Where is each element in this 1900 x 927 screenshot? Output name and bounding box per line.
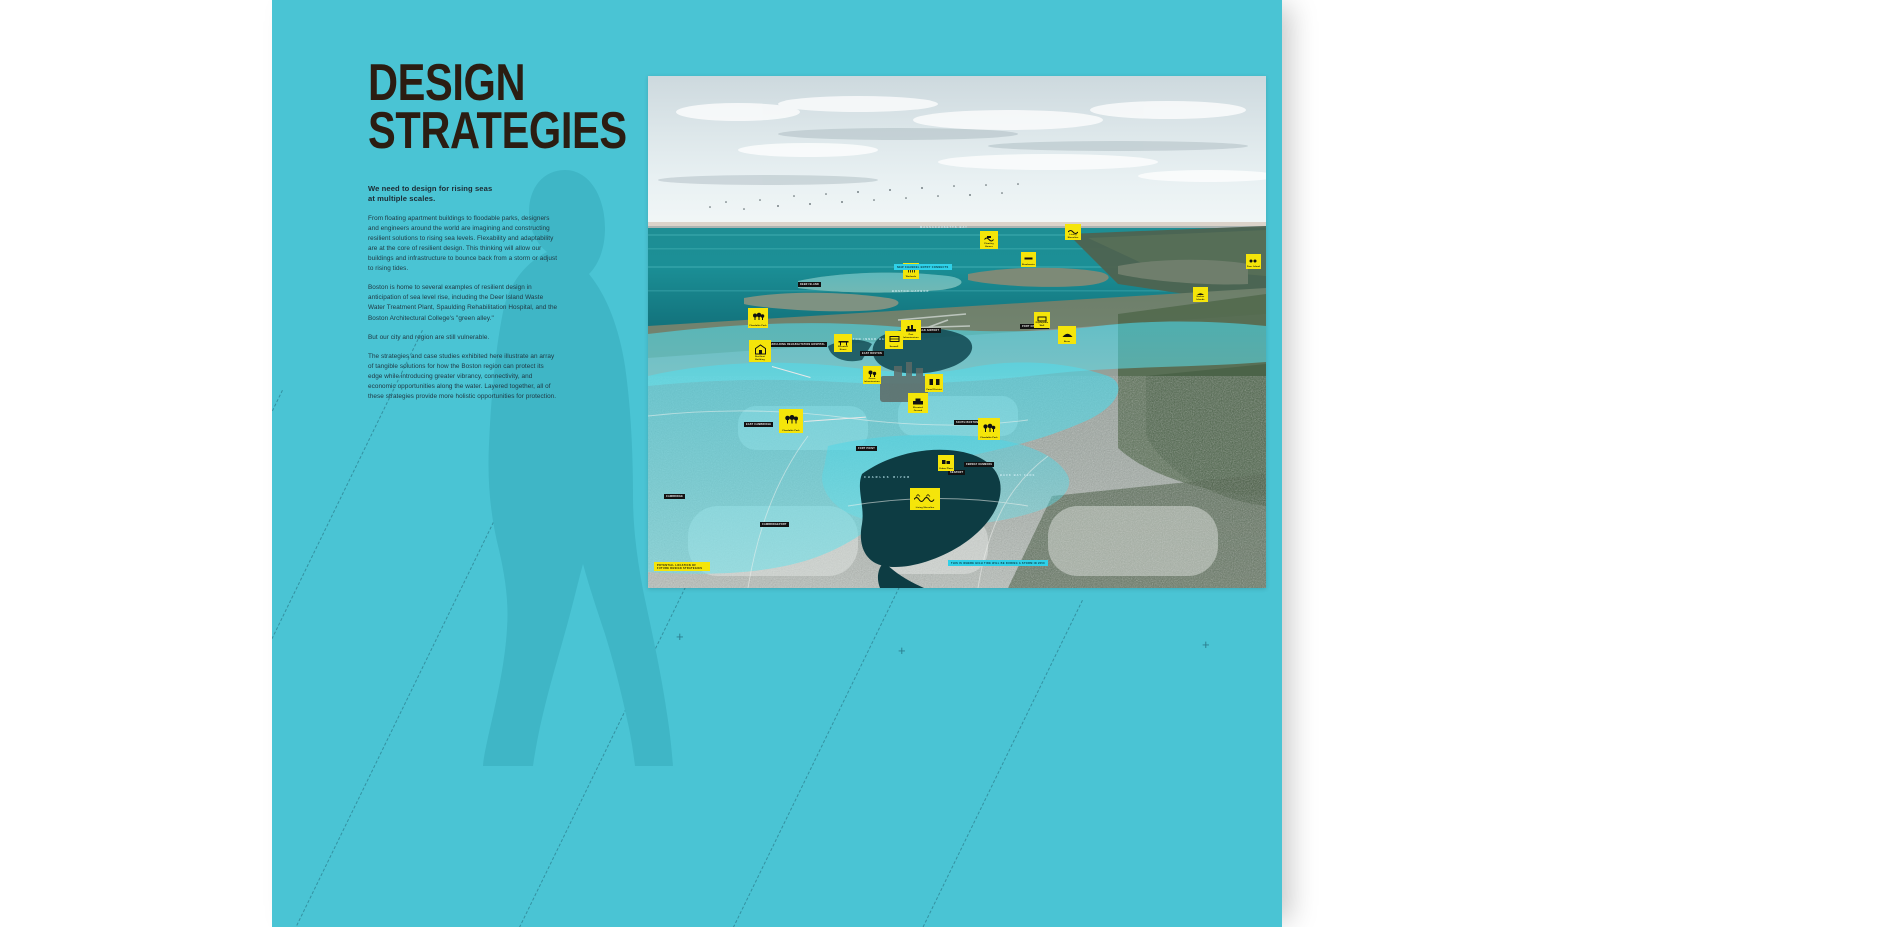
- marker-label: Deployable Wall: [1035, 322, 1049, 327]
- marker-label: Resilient Building: [750, 356, 770, 361]
- map-marker-berm[interactable]: Berm: [1058, 326, 1076, 344]
- title-line-1: DESIGN: [368, 60, 520, 108]
- park-icon: [978, 419, 1000, 436]
- crosshair-mark-3: +: [898, 644, 906, 657]
- contour-line-5: [298, 560, 913, 927]
- place-label-south-boston: SOUTH BOSTON: [954, 420, 980, 425]
- plant-icon: [1246, 255, 1261, 265]
- map-marker-port-infrastructure[interactable]: Port Infrastructure: [901, 320, 921, 340]
- map-marker-canal-district[interactable]: Canal District: [925, 374, 943, 392]
- marker-label: Urban Plaza: [939, 468, 953, 470]
- body-paragraph: But our city and region are still vulner…: [368, 333, 558, 343]
- map-marker-living-shoreline-north[interactable]: Living Shoreline: [1065, 224, 1081, 240]
- body-paragraph: From floating apartment buildings to flo…: [368, 214, 558, 275]
- subheading: We need to design for rising seas at mul…: [368, 184, 558, 205]
- berm-icon: [1058, 327, 1076, 340]
- map-caption-massachusetts-bay: MASSACHUSETTS BAY: [920, 226, 968, 229]
- marker-label: Berm: [1059, 341, 1075, 343]
- map-marker-floodable-park-west[interactable]: Floodable Park: [779, 409, 803, 433]
- marker-label: Wetlands: [904, 276, 918, 278]
- marker-label: Floodable Park: [749, 325, 767, 327]
- body-paragraph: The strategies and case studies exhibite…: [368, 352, 558, 403]
- marker-label: Floating Homes: [981, 243, 997, 248]
- plaza-icon: [938, 456, 954, 467]
- place-label-east-boston: EAST BOSTON: [860, 351, 884, 356]
- map-caption-charles-river: CHARLES RIVER: [864, 476, 911, 479]
- place-label-east-cambridge: EAST CAMBRIDGE: [744, 422, 773, 427]
- place-label-spaulding: SPAULDING REHABILITATION HOSPITAL: [768, 342, 827, 347]
- map-marker-urban-plaza[interactable]: Urban Plaza: [938, 455, 954, 471]
- map-caption-boston-harbor: BOSTON HARBOR: [892, 290, 929, 293]
- park-icon: [748, 309, 768, 324]
- map-marker-floodable-park-south[interactable]: Floodable Park: [978, 418, 1000, 440]
- marker-label: Living Shoreline: [911, 507, 939, 509]
- place-label-deer-island: DEER ISLAND: [798, 282, 821, 287]
- crosshair-mark-1: +: [566, 370, 574, 383]
- place-label-fenway-kenmore: FENWAY KENMORE: [964, 462, 994, 467]
- map-banner-flood-caption: THIS IS WHERE HIGH TIDE WILL BE DURING A…: [948, 560, 1048, 566]
- map-marker-resilient-building[interactable]: Resilient Building: [749, 340, 771, 362]
- page-title: DESIGN STRATEGIES: [368, 60, 520, 156]
- marker-label: Port Infrastructure: [902, 334, 920, 339]
- map-marker-elevated-ground[interactable]: Elevated Ground: [908, 393, 928, 413]
- contour-line-3: [272, 360, 573, 927]
- marker-label: Green Infrastructure: [864, 378, 880, 383]
- marker-label: Deer Island: [1247, 266, 1260, 268]
- map-legend: POTENTIAL LOCATION OF FUTURE DESIGN STRA…: [654, 562, 710, 571]
- barrier-icon: [1021, 253, 1036, 263]
- map-imagery: [648, 76, 1266, 588]
- canal-icon: [925, 375, 943, 388]
- place-label-cambridge: CAMBRIDGE: [664, 494, 685, 499]
- map-marker-breakwater[interactable]: Breakwater: [1021, 252, 1036, 267]
- marker-label: Harbor Islands: [1194, 296, 1207, 301]
- map-marker-floodable-park-north[interactable]: Floodable Park: [748, 308, 768, 328]
- marker-label: Canal District: [926, 389, 942, 391]
- shoreline-icon: [910, 489, 940, 506]
- contour-line-6: [468, 600, 1083, 927]
- marker-label: Breakwater: [1022, 264, 1035, 266]
- place-label-fort-point: FORT POINT: [856, 446, 877, 451]
- map-marker-green-infrastructure[interactable]: Green Infrastructure: [863, 366, 881, 384]
- marker-label: Seawall: [886, 346, 902, 348]
- marker-label: Living Shoreline: [1066, 234, 1080, 239]
- legend-line-2: FUTURE DESIGN STRATEGIES: [657, 567, 702, 570]
- map-banner-new-channel: NEW CHANNEL ENTRY CONNECTS: [894, 264, 952, 270]
- marker-label: Floodable Park: [979, 437, 999, 439]
- contour-line-1: [272, 390, 283, 927]
- text-column: DESIGN STRATEGIES We need to design for …: [368, 60, 558, 402]
- title-line-2: STRATEGIES: [368, 108, 520, 156]
- boston-harbor-map[interactable]: MASSACHUSETTS BAY BOSTON HARBOR BOSTON I…: [648, 76, 1266, 588]
- body-paragraph: Boston is home to several examples of re…: [368, 283, 558, 323]
- subheading-line-2: at multiple scales.: [368, 194, 558, 204]
- marker-label: Elevated Street: [835, 346, 851, 351]
- subheading-line-1: We need to design for rising seas: [368, 184, 558, 194]
- contour-line-2: [272, 330, 423, 927]
- marker-label: Floodable Park: [780, 430, 802, 432]
- map-marker-floating-homes[interactable]: Floating Homes: [980, 231, 998, 249]
- park-icon: [779, 410, 803, 429]
- map-marker-deployable-wall[interactable]: Deployable Wall: [1034, 312, 1050, 328]
- map-marker-deer-island-plant[interactable]: Deer Island: [1246, 254, 1261, 269]
- map-marker-elevated-street[interactable]: Elevated Street: [834, 334, 852, 352]
- exhibit-panel: + + + + DESIGN STRATEGIES We need to des…: [272, 0, 1282, 927]
- marker-label: Elevated Ground: [909, 407, 927, 412]
- crosshair-mark-4: +: [1202, 638, 1210, 651]
- place-label-cambridgeport: CAMBRIDGEPORT: [760, 522, 789, 527]
- map-caption-back-bay-fens: BACK BAY FENS: [1000, 474, 1035, 477]
- map-marker-harbor-islands[interactable]: Harbor Islands: [1193, 287, 1208, 302]
- crosshair-mark-2: +: [676, 630, 684, 643]
- map-marker-living-shoreline-south[interactable]: Living Shoreline: [910, 488, 940, 510]
- poster-canvas: + + + + DESIGN STRATEGIES We need to des…: [0, 0, 1900, 927]
